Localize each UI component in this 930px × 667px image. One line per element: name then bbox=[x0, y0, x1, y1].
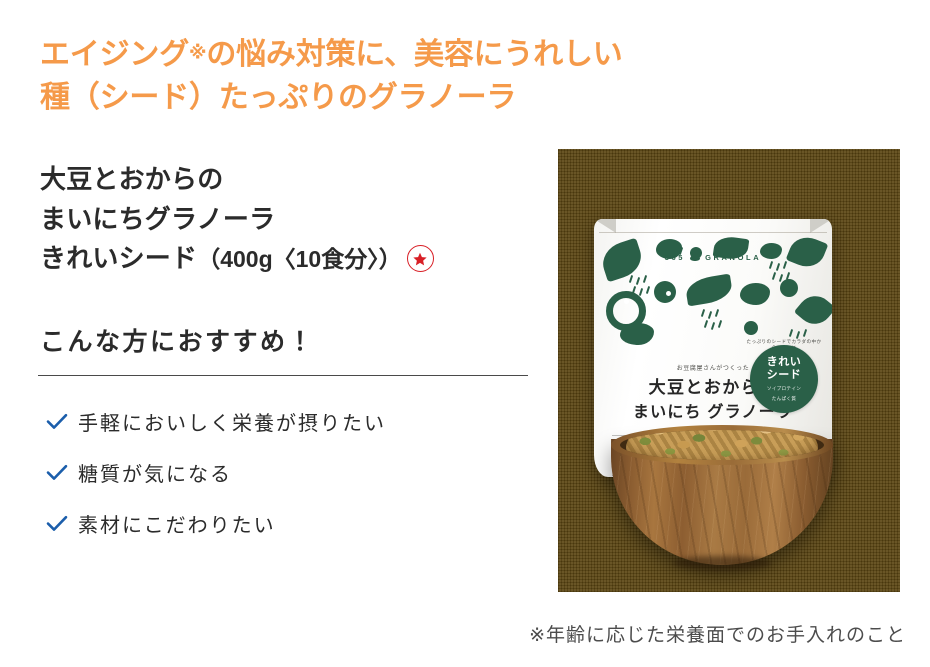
list-item: 糖質が気になる bbox=[44, 447, 544, 498]
check-icon bbox=[44, 412, 70, 432]
product-name-line-2: まいにちグラノーラ bbox=[40, 200, 550, 240]
content-column: エイジング※の悩み対策に、美容にうれしい 種（シード）たっぷりのグラノーラ 大豆… bbox=[0, 0, 558, 667]
brand-number: 365 bbox=[665, 253, 685, 262]
granola-serving bbox=[626, 430, 818, 460]
pouch-gusset-left bbox=[594, 219, 616, 233]
headline-line-2: 種（シード）たっぷりのグラノーラ bbox=[40, 77, 560, 120]
product-name-variant: きれいシード bbox=[40, 243, 197, 273]
headline-keyword: エイジング bbox=[40, 38, 189, 71]
brand-word: GRANOLA bbox=[705, 253, 761, 262]
page-headline: エイジング※の悩み対策に、美容にうれしい 種（シード）たっぷりのグラノーラ bbox=[40, 34, 560, 119]
list-item-label: 手軽においしく栄養が摂りたい bbox=[78, 407, 386, 436]
check-icon bbox=[44, 463, 70, 483]
reference-mark-icon: ※ bbox=[189, 43, 206, 63]
list-item: 手軽においしく栄養が摂りたい bbox=[44, 396, 544, 447]
pouch-gusset-right bbox=[810, 219, 832, 233]
bean-icon bbox=[690, 255, 700, 261]
footnote: ※年齢に応じた栄養面でのお手入れのこと bbox=[529, 620, 906, 647]
bowl-shadow bbox=[673, 556, 771, 570]
recommend-list: 手軽においしく栄養が摂りたい 糖質が気になる 素材にこだわりたい bbox=[44, 396, 544, 549]
pouch-brand-logo: 365GRANOLA bbox=[594, 253, 832, 262]
section-divider bbox=[38, 375, 528, 376]
list-item-label: 素材にこだわりたい bbox=[78, 509, 276, 538]
pouch-variant-badge: きれい シード ソイプロテイン たんぱく質 bbox=[750, 345, 818, 413]
badge-main-line-1: きれい bbox=[767, 356, 802, 370]
wooden-bowl bbox=[611, 425, 833, 567]
badge-main-line-2: シード bbox=[767, 369, 802, 383]
product-size: （400g〈10食分〉） bbox=[197, 246, 402, 272]
product-name-line-3: きれいシード（400g〈10食分〉） bbox=[40, 239, 550, 279]
bowl-interior bbox=[620, 430, 824, 460]
star-icon bbox=[407, 245, 434, 272]
recommend-heading: こんな方におすすめ！ bbox=[40, 322, 315, 358]
badge-sub-line-2: たんぱく質 bbox=[772, 396, 796, 403]
headline-line-1-rest: の悩み対策に、美容にうれしい bbox=[206, 38, 622, 71]
pouch-seam bbox=[599, 232, 827, 233]
list-item: 素材にこだわりたい bbox=[44, 498, 544, 549]
badge-sub-line-1: ソイプロテイン bbox=[767, 386, 801, 393]
product-name: 大豆とおからの まいにちグラノーラ きれいシード（400g〈10食分〉） bbox=[40, 160, 550, 279]
headline-line-1: エイジング※の悩み対策に、美容にうれしい bbox=[40, 34, 560, 77]
check-icon bbox=[44, 514, 70, 534]
product-photo: 365GRANOLA お豆腐屋さんがつくった 大豆とおからの まいにち グラノー… bbox=[558, 149, 900, 592]
product-name-line-1: 大豆とおからの bbox=[40, 160, 550, 200]
list-item-label: 糖質が気になる bbox=[78, 458, 232, 487]
